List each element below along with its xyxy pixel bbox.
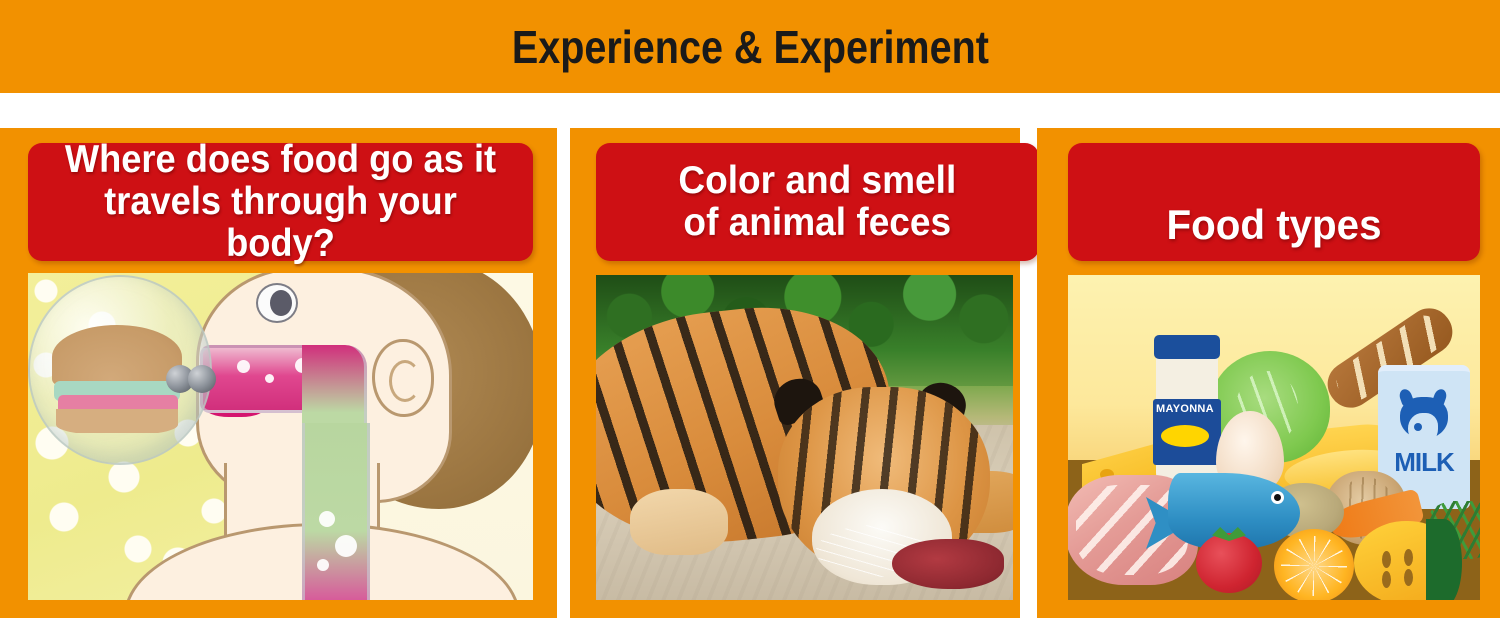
esophagus-tube-vertical	[302, 423, 370, 600]
panel-feces-banner: Color and smell of animal feces	[596, 143, 1039, 261]
pumpkin-icon	[1354, 521, 1458, 600]
panel-food-types[interactable]: Food types	[1037, 128, 1500, 618]
pumpkin-rind-shape	[1426, 519, 1462, 600]
esophagus-tube-corner	[302, 345, 367, 435]
digestion-illustration	[28, 273, 533, 600]
fish-eye-shape	[1271, 491, 1284, 504]
panel-feces-banner-text: Color and smell of animal feces	[679, 160, 957, 244]
header-bar: Experience & Experiment	[0, 0, 1500, 93]
tiger-photo-illustration	[596, 275, 1013, 600]
cow-face-icon	[1396, 387, 1452, 443]
cow-head-shape	[1400, 397, 1448, 439]
page-title: Experience & Experiment	[511, 20, 988, 74]
bubble-icon	[237, 360, 250, 373]
mayonnaise-jar-icon: MAYONNA	[1156, 347, 1218, 485]
eye-shape	[256, 283, 298, 323]
panel-digestion-banner: Where does food go as it travels through…	[28, 143, 533, 261]
panel-digestion[interactable]: Where does food go as it travels through…	[0, 128, 557, 618]
panel-feces[interactable]: Color and smell of animal feces	[570, 128, 1020, 618]
mayonnaise-label: MAYONNA	[1156, 403, 1220, 415]
tomato-icon	[1196, 533, 1262, 593]
panel-food-types-banner-text: Food types	[1166, 202, 1381, 247]
bun-bottom-shape	[56, 409, 178, 433]
cow-snout-shape	[1408, 413, 1438, 445]
panel-feces-image	[596, 275, 1013, 600]
raw-meat-shape	[892, 539, 1004, 589]
milk-label: MILK	[1378, 447, 1470, 478]
orange-slice-icon	[1274, 529, 1354, 600]
jar-label-band: MAYONNA	[1153, 399, 1221, 465]
cow-eye-shape	[1414, 423, 1422, 431]
metal-ball-icon	[188, 365, 216, 393]
panel-food-types-banner: Food types	[1068, 143, 1480, 261]
hamburger-icon	[52, 325, 182, 433]
bubble-icon	[335, 535, 357, 557]
bubble-icon	[265, 374, 274, 383]
food-illustration: MAYONNA MILK	[1068, 275, 1480, 600]
ear-shape	[372, 339, 434, 417]
tiger-paw-shape	[630, 489, 728, 555]
panel-digestion-image	[28, 273, 533, 600]
jar-cap-shape	[1154, 335, 1220, 359]
bun-top-shape	[52, 325, 182, 389]
bubble-icon	[317, 559, 329, 571]
panel-digestion-banner-text: Where does food go as it travels through…	[46, 139, 516, 265]
jar-oval-shape	[1161, 425, 1209, 447]
panel-food-types-image: MAYONNA MILK	[1068, 275, 1480, 600]
bubble-icon	[319, 511, 335, 527]
slide-root: Experience & Experiment Where does food …	[0, 0, 1500, 618]
panel-row: Where does food go as it travels through…	[0, 128, 1500, 618]
metal-balls-group	[166, 365, 226, 393]
